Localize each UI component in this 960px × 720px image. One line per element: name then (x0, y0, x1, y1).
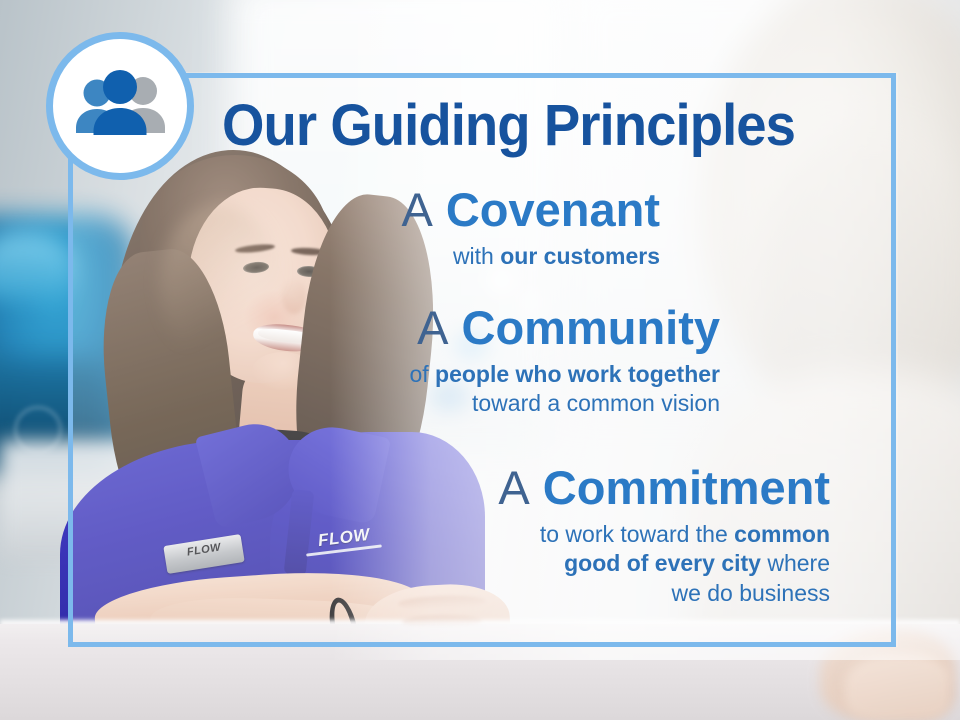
detail-line-1: of people who work together (330, 360, 720, 389)
associate-nose (282, 280, 306, 314)
principle-heading-commitment: A Commitment (380, 464, 830, 513)
principle-detail-community: of people who work together toward a com… (330, 360, 720, 419)
detail-lead: of (409, 361, 435, 387)
group-of-people-icon (68, 69, 172, 143)
page-title: Our Guiding Principles (222, 92, 795, 159)
principle-keyword: Commitment (543, 461, 830, 514)
desk-surface (0, 624, 960, 720)
principle-block-commitment: A Commitment to work toward the common g… (380, 464, 830, 608)
principle-detail-commitment: to work toward the common good of every … (380, 520, 830, 608)
detail-bold: people who work together (435, 361, 720, 387)
customer-hand-fingers (845, 655, 950, 720)
detail-lead: with (453, 243, 500, 269)
principle-article: A (401, 183, 432, 236)
principle-heading-covenant: A Covenant (330, 186, 660, 235)
poster-canvas: FLOW FLOW Our Guiding Princ (0, 0, 960, 720)
principle-detail-covenant: with our customers (330, 242, 660, 271)
detail-line-2: toward a common vision (330, 389, 720, 418)
detail-line-3: we do business (380, 579, 830, 608)
principle-article: A (417, 301, 448, 354)
principle-keyword: Covenant (446, 183, 660, 236)
detail-bold: common (734, 521, 830, 547)
detail-tail: where (761, 550, 830, 576)
detail-line-1: to work toward the common (380, 520, 830, 549)
detail-bold: good of every city (564, 550, 761, 576)
principle-block-covenant: A Covenant with our customers (330, 186, 660, 271)
detail-line-2: good of every city where (380, 549, 830, 578)
principle-article: A (498, 461, 529, 514)
principle-heading-community: A Community (330, 304, 720, 353)
principle-block-community: A Community of people who work together … (330, 304, 720, 419)
principle-keyword: Community (462, 301, 721, 354)
icon-badge-content (46, 32, 194, 180)
detail-bold: our customers (500, 243, 660, 269)
detail-lead: to work toward the (540, 521, 734, 547)
associate-hair-highlight (160, 205, 280, 365)
